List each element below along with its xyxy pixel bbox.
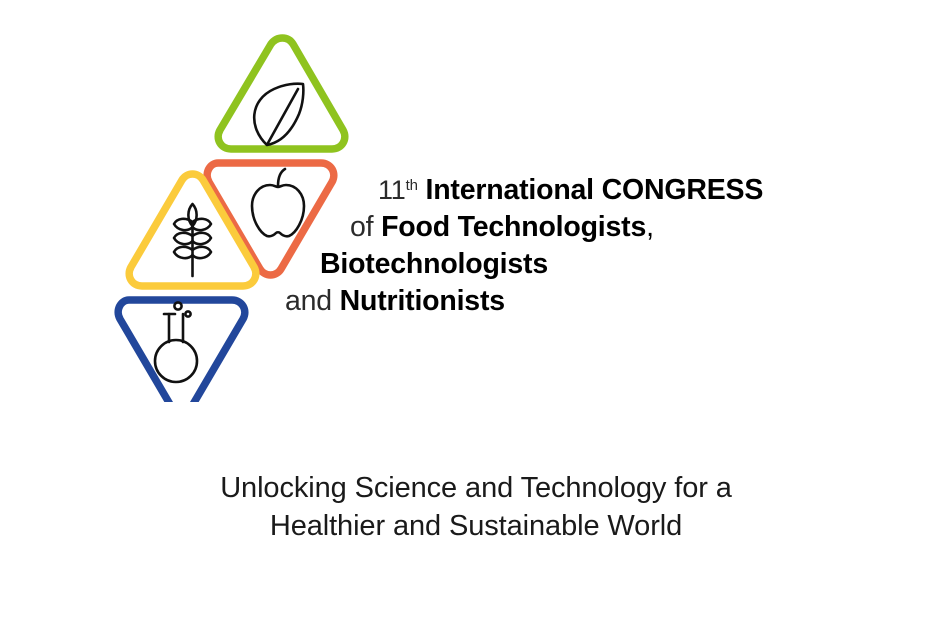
- ordinal-suffix: th: [406, 177, 418, 194]
- title-line-1-bold-text: International CONGRESS: [425, 174, 763, 206]
- title-line-4: and Nutritionists: [272, 283, 872, 320]
- green-triangle: [218, 38, 345, 149]
- tagline: Unlocking Science and Technology for a H…: [0, 470, 952, 545]
- flask-icon: [155, 302, 197, 382]
- congress-title: 11th International CONGRESS of Food Tech…: [272, 172, 872, 320]
- title-line-2-bold: Food Technologists: [381, 211, 646, 243]
- blue-triangle: [118, 300, 245, 402]
- wheat-icon: [174, 204, 211, 276]
- logo-lockup: 11th International CONGRESS of Food Tech…: [0, 0, 952, 430]
- title-line-2: of Food Technologists,: [272, 209, 872, 246]
- title-line-2-prefix: of: [350, 211, 373, 243]
- leaf-icon: [254, 84, 303, 145]
- tagline-line-1: Unlocking Science and Technology for a: [0, 470, 952, 508]
- title-line-4-bold: Nutritionists: [340, 285, 505, 317]
- title-line-4-prefix: and: [285, 285, 332, 317]
- title-line-2-comma: ,: [646, 211, 654, 243]
- title-line-1-bold: International CONGRESS: [418, 174, 763, 206]
- tagline-line-2: Healthier and Sustainable World: [0, 508, 952, 546]
- title-line-3: Biotechnologists: [272, 246, 872, 283]
- title-line-1: 11th International CONGRESS: [272, 172, 872, 209]
- title-line-2-bold-wrap: Food Technologists: [373, 211, 646, 243]
- ordinal-number: 11: [378, 175, 406, 205]
- title-line-4-bold-wrap: Nutritionists: [332, 285, 505, 317]
- title-line-3-bold: Biotechnologists: [320, 248, 548, 280]
